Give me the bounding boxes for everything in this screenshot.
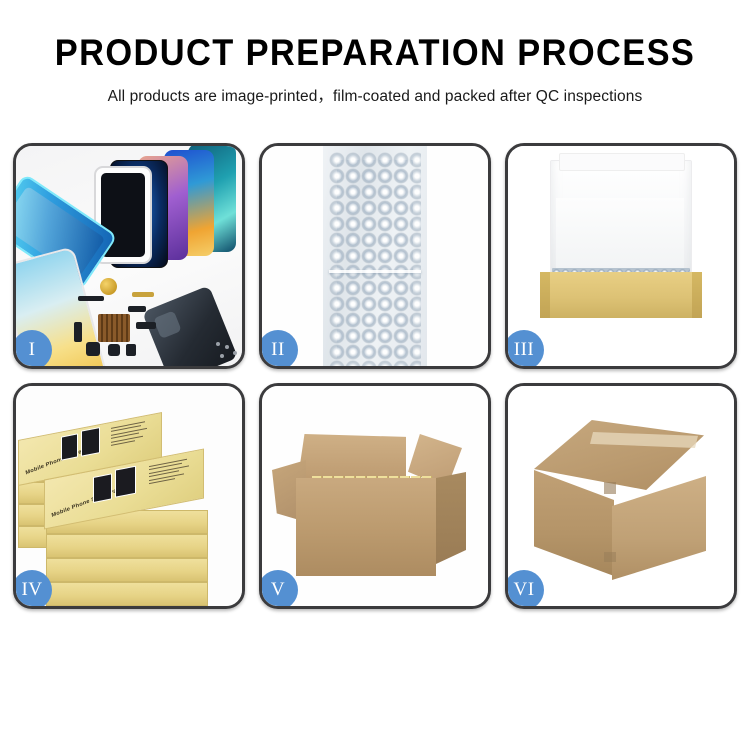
product-preparation-page: PRODUCT PREPARATION PROCESS All products… (0, 0, 750, 750)
process-steps-grid: I II III (13, 143, 737, 609)
flex-cable-icon (78, 296, 104, 301)
foam-insert-icon (556, 198, 684, 270)
step-numeral-1: I (29, 339, 36, 361)
retail-box-label: Mobile Phone Spare Parts (51, 485, 125, 519)
step-panel-6: VI (505, 383, 737, 609)
speaker-module-icon (108, 344, 120, 356)
step-panel-5: V (259, 383, 491, 609)
retail-box-icon (46, 558, 208, 582)
camera-flex-icon (136, 322, 156, 329)
page-subtitle: All products are image-printed，film-coat… (0, 84, 750, 106)
sealed-carton-right-icon (612, 476, 706, 580)
step-numeral-2: II (271, 339, 285, 361)
carton-front-face-icon (296, 478, 436, 576)
box-art-screen-icon (81, 427, 100, 457)
retail-box-icon (46, 582, 208, 606)
box-spec-lines (111, 420, 151, 448)
speaker-coil-icon (100, 278, 117, 295)
carton-flap-back-icon (298, 434, 406, 482)
screws-icon (216, 342, 238, 360)
bubble-wrap-seam (329, 270, 421, 273)
carton-seam-lower (604, 552, 616, 562)
step-panel-1: I (13, 143, 245, 369)
step-badge-5: V (259, 570, 298, 609)
step-5-image (262, 386, 488, 606)
bubble-grid-back (337, 160, 413, 358)
carton-side-face-icon (436, 472, 466, 564)
step-numeral-5: V (271, 579, 285, 601)
box-art-screen-icon (93, 473, 112, 503)
box-art-screen-icon (115, 466, 136, 498)
step-badge-4: IV (13, 570, 52, 609)
sealed-carton-left-icon (534, 470, 614, 576)
box-art-screen-icon (61, 433, 78, 460)
step-numeral-3: III (514, 339, 534, 361)
retail-box-icon (46, 534, 208, 558)
step-badge-2: II (259, 330, 298, 369)
bubble-wrap-icon (323, 146, 427, 366)
retail-box-stack-icon: Mobile Phone Spare Parts Mobile Phone Sp… (18, 402, 234, 606)
inner-box-base-icon (546, 272, 696, 318)
vibrator-module-icon (86, 342, 100, 356)
step-numeral-6: VI (513, 579, 534, 601)
page-header: PRODUCT PREPARATION PROCESS All products… (0, 0, 750, 106)
sealed-carton-top-icon (534, 420, 704, 490)
flex-cable-gold-icon (132, 292, 154, 297)
step-panel-4: Mobile Phone Spare Parts Mobile Phone Sp… (13, 383, 245, 609)
step-2-image (262, 146, 488, 366)
page-title: PRODUCT PREPARATION PROCESS (26, 34, 724, 71)
small-part-icon (74, 322, 82, 342)
sim-tray-icon (126, 344, 136, 356)
step-6-image (508, 386, 734, 606)
box-spec-lines (149, 458, 193, 487)
step-badge-3: III (505, 330, 544, 369)
step-badge-1: I (13, 330, 52, 369)
step-panel-2: II (259, 143, 491, 369)
button-flex-icon (128, 306, 146, 312)
connector-grid-icon (98, 314, 130, 342)
step-4-image: Mobile Phone Spare Parts Mobile Phone Sp… (16, 386, 242, 606)
step-badge-6: VI (505, 570, 544, 609)
step-3-image (508, 146, 734, 366)
step-panel-3: III (505, 143, 737, 369)
step-1-image (16, 146, 242, 366)
step-numeral-4: IV (21, 579, 42, 601)
carton-seam-upper (604, 482, 616, 494)
